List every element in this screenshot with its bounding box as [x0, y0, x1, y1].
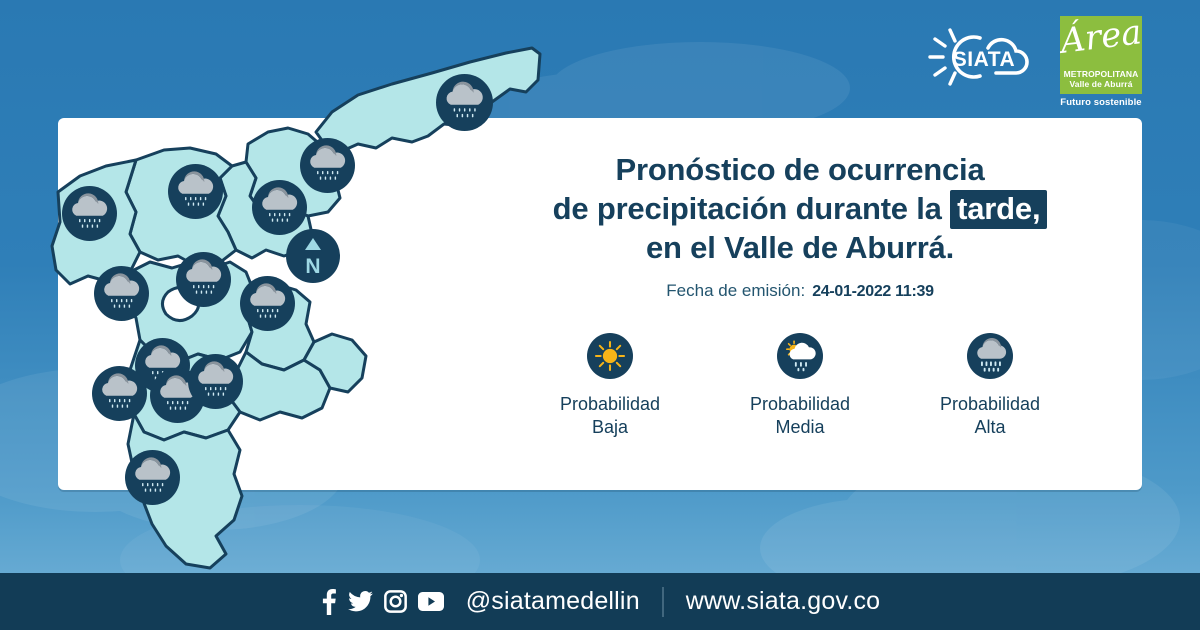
sun-icon: [593, 339, 627, 373]
title-line-2: de precipitación durante la tarde,: [470, 189, 1130, 228]
title-line-3: en el Valle de Aburrá.: [470, 228, 1130, 267]
marker-caldas-sur[interactable]: [125, 450, 180, 505]
marker-bello[interactable]: [168, 164, 223, 219]
page-title: Pronóstico de ocurrencia de precipitació…: [470, 150, 1130, 267]
logo-group: SIATA Área METROPOLITANA Valle de Aburrá…: [924, 16, 1142, 108]
am-script-text: Área: [1060, 16, 1142, 59]
facebook-icon[interactable]: [320, 589, 337, 615]
legend-label-baja: Probabilidad Baja: [560, 393, 660, 439]
sun-cloud-rain-icon: [783, 339, 817, 373]
am-subtitle: METROPOLITANA Valle de Aburrá: [1060, 70, 1142, 90]
marker-envigado[interactable]: [240, 276, 295, 331]
youtube-icon[interactable]: [418, 592, 444, 611]
social-icons: [320, 589, 444, 615]
emission-row: Fecha de emisión: 24-01-2022 11:39: [470, 281, 1130, 301]
emission-date: 24-01-2022 11:39: [812, 283, 934, 301]
instagram-icon[interactable]: [384, 590, 407, 613]
title-line-2-text: de precipitación durante la: [553, 191, 942, 226]
forecast-content: Pronóstico de ocurrencia de precipitació…: [470, 150, 1130, 439]
legend-label-alta: Probabilidad Alta: [940, 393, 1040, 439]
marker-copacabana[interactable]: [252, 180, 307, 235]
area-metropolitana-logo: Área METROPOLITANA Valle de Aburrá Futur…: [1060, 16, 1142, 108]
siata-logo-text: SIATA: [953, 48, 1015, 71]
legend-label-baja-l2: Baja: [560, 416, 660, 439]
twitter-icon[interactable]: [348, 591, 373, 612]
infographic-canvas: SIATA Área METROPOLITANA Valle de Aburrá…: [0, 0, 1200, 630]
footer-content: @siatamedellin www.siata.gov.co: [320, 587, 881, 617]
legend-label-baja-l1: Probabilidad: [560, 393, 660, 416]
municipality-barbosa[interactable]: [316, 48, 540, 152]
am-green-box: Área METROPOLITANA Valle de Aburrá: [1060, 16, 1142, 94]
footer-bar: @siatamedellin www.siata.gov.co: [0, 573, 1200, 630]
legend-item-media[interactable]: Probabilidad Media: [705, 333, 895, 439]
legend-label-media: Probabilidad Media: [750, 393, 850, 439]
title-line-1: Pronóstico de ocurrencia: [470, 150, 1130, 189]
legend-label-media-l2: Media: [750, 416, 850, 439]
legend-label-alta-l2: Alta: [940, 416, 1040, 439]
marker-itagui[interactable]: [94, 266, 149, 321]
marker-san-pedro[interactable]: [62, 186, 117, 241]
footer-divider: [662, 587, 664, 617]
legend-icon-wrap-alta: [967, 333, 1013, 379]
cloud-rain-icon: [972, 338, 1008, 374]
compass-label: N: [305, 255, 320, 278]
valle-de-aburra-map: N: [40, 40, 540, 600]
legend-item-alta[interactable]: Probabilidad Alta: [895, 333, 1085, 439]
legend-item-baja[interactable]: Probabilidad Baja: [515, 333, 705, 439]
title-highlight-tarde: tarde,: [950, 190, 1047, 229]
am-tagline: Futuro sostenible: [1060, 97, 1142, 108]
legend-label-alta-l1: Probabilidad: [940, 393, 1040, 416]
social-handle[interactable]: @siatamedellin: [466, 587, 640, 616]
website-url[interactable]: www.siata.gov.co: [686, 587, 880, 616]
probability-legend: Probabilidad Baja: [470, 333, 1130, 439]
emission-label: Fecha de emisión:: [666, 281, 805, 301]
am-subtitle-line2: Valle de Aburrá: [1060, 80, 1142, 90]
compass-rose: N: [286, 229, 340, 283]
siata-logo: SIATA: [924, 26, 1046, 88]
marker-sur[interactable]: [188, 354, 243, 409]
legend-icon-wrap-baja: [587, 333, 633, 379]
legend-icon-wrap-media: [777, 333, 823, 379]
legend-label-media-l1: Probabilidad: [750, 393, 850, 416]
marker-la-estrella[interactable]: [92, 366, 147, 421]
marker-barbosa[interactable]: [436, 74, 493, 131]
marker-medellin[interactable]: [176, 252, 231, 307]
marker-girardota[interactable]: [300, 138, 355, 193]
